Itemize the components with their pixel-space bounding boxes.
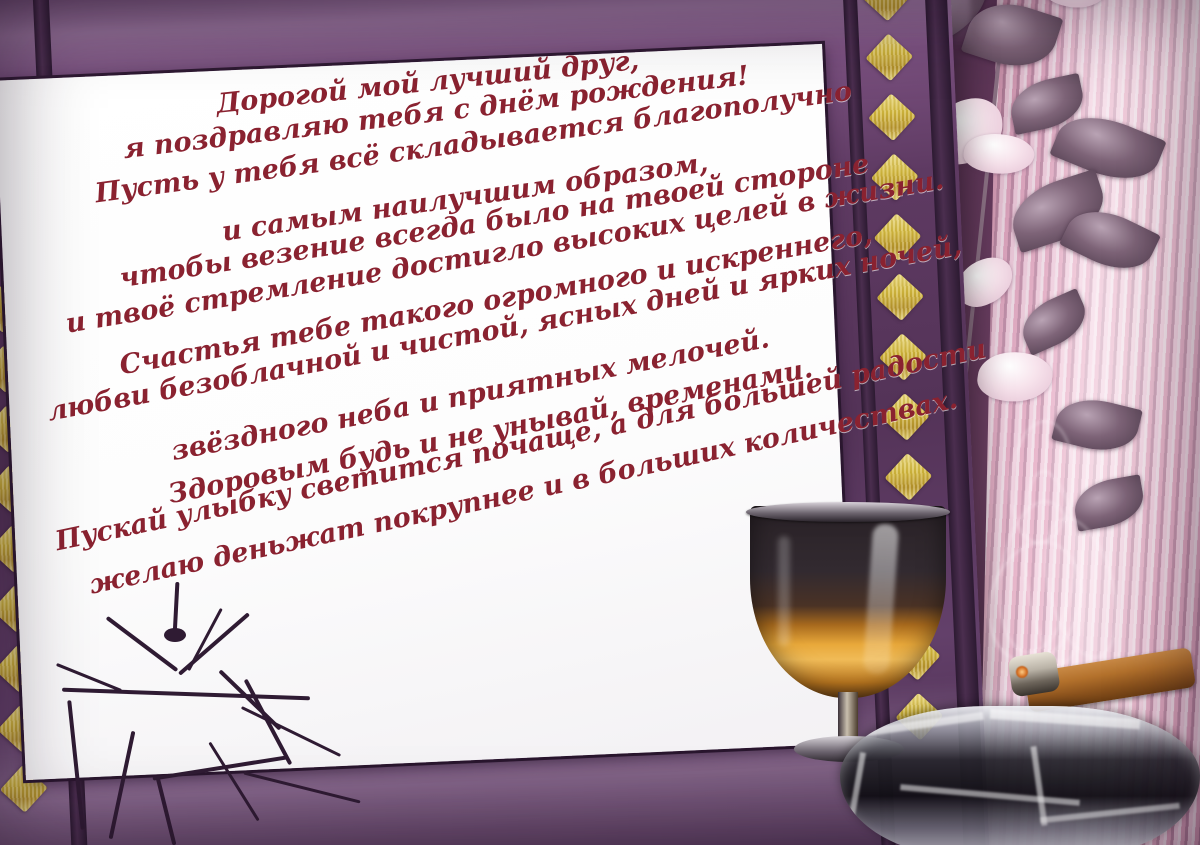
sketch-stroke xyxy=(208,742,259,822)
line-art-sailboat-sketch xyxy=(60,580,460,845)
ashtray-facet xyxy=(1040,803,1180,824)
sketch-stroke xyxy=(243,772,360,804)
sketch-stroke xyxy=(62,688,310,701)
ashtray-facet xyxy=(1030,746,1047,826)
glass-rim xyxy=(746,502,950,522)
cigar-ember xyxy=(1016,666,1028,678)
crystal-ashtray xyxy=(840,706,1200,845)
sketch-stroke xyxy=(109,731,136,839)
sketch-stroke xyxy=(164,628,186,642)
greeting-card-image: Дорогой мой лучший друг,я поздравляю теб… xyxy=(0,0,1200,845)
sketch-stroke xyxy=(156,777,177,845)
gold-diamond xyxy=(863,0,911,21)
flower-icon xyxy=(975,347,1055,407)
sketch-stroke xyxy=(241,706,341,757)
ashtray-facet xyxy=(900,784,1080,806)
ashtray-facet xyxy=(848,752,866,822)
sketch-stroke xyxy=(67,700,85,830)
glass-highlight xyxy=(863,523,899,674)
glass-bowl xyxy=(750,506,946,698)
leaf-icon xyxy=(1014,288,1094,356)
cigar-ash xyxy=(1007,650,1061,697)
glass-highlight xyxy=(778,536,790,646)
sketch-stroke xyxy=(106,616,179,672)
